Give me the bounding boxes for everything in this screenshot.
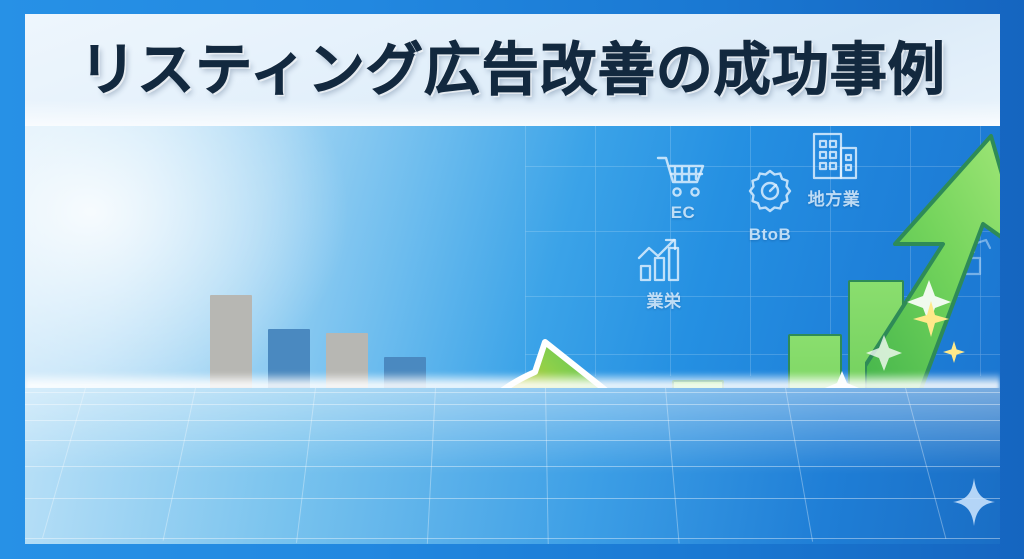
- page-title: リスティング広告改善の成功事例: [79, 42, 946, 99]
- illustration-stage: EC BtoB 地方業: [25, 126, 1000, 544]
- perspective-floor: [25, 388, 1000, 544]
- image-frame: リスティング広告改善の成功事例 EC: [0, 0, 1024, 559]
- title-banner: リスティング広告改善の成功事例: [25, 14, 1000, 126]
